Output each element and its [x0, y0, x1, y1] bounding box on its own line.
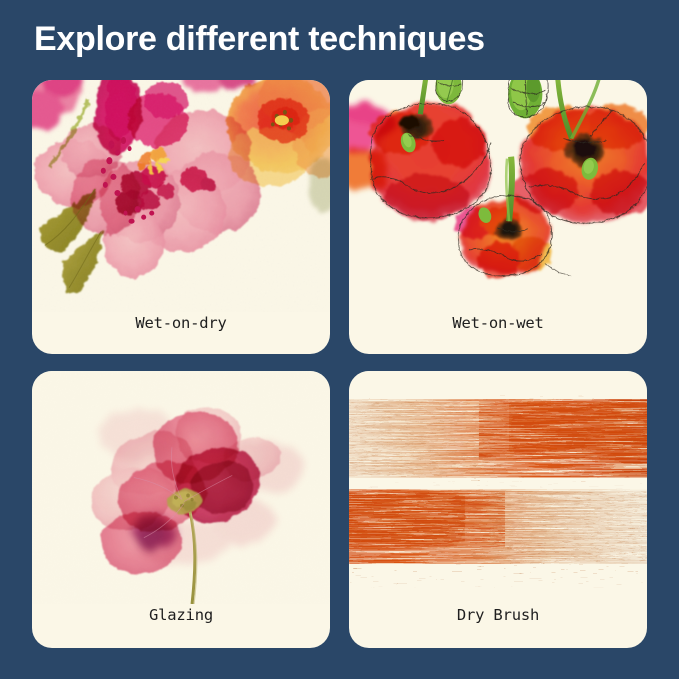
techniques-page: Explore different techniques: [0, 0, 679, 679]
page-title: Explore different techniques: [34, 17, 485, 61]
technique-card-dry-brush[interactable]: Dry Brush: [349, 371, 647, 648]
glazing-illustration: [32, 371, 330, 604]
artwork-wet-on-dry: [32, 80, 330, 312]
technique-card-glazing[interactable]: Glazing: [32, 371, 330, 648]
artwork-wet-on-wet: [349, 80, 647, 312]
technique-card-wet-on-dry[interactable]: Wet-on-dry: [32, 80, 330, 354]
card-label-dry-brush: Dry Brush: [349, 604, 647, 648]
technique-card-grid: Wet-on-dry: [32, 80, 647, 648]
artwork-dry-brush: [349, 371, 647, 604]
card-label-glazing: Glazing: [32, 604, 330, 648]
dry-brush-illustration: [349, 371, 647, 604]
card-label-wet-on-dry: Wet-on-dry: [32, 312, 330, 354]
wet-on-dry-illustration: [32, 80, 330, 312]
wet-on-wet-illustration: [349, 80, 647, 312]
technique-card-wet-on-wet[interactable]: Wet-on-wet: [349, 80, 647, 354]
artwork-glazing: [32, 371, 330, 604]
card-label-wet-on-wet: Wet-on-wet: [349, 312, 647, 354]
